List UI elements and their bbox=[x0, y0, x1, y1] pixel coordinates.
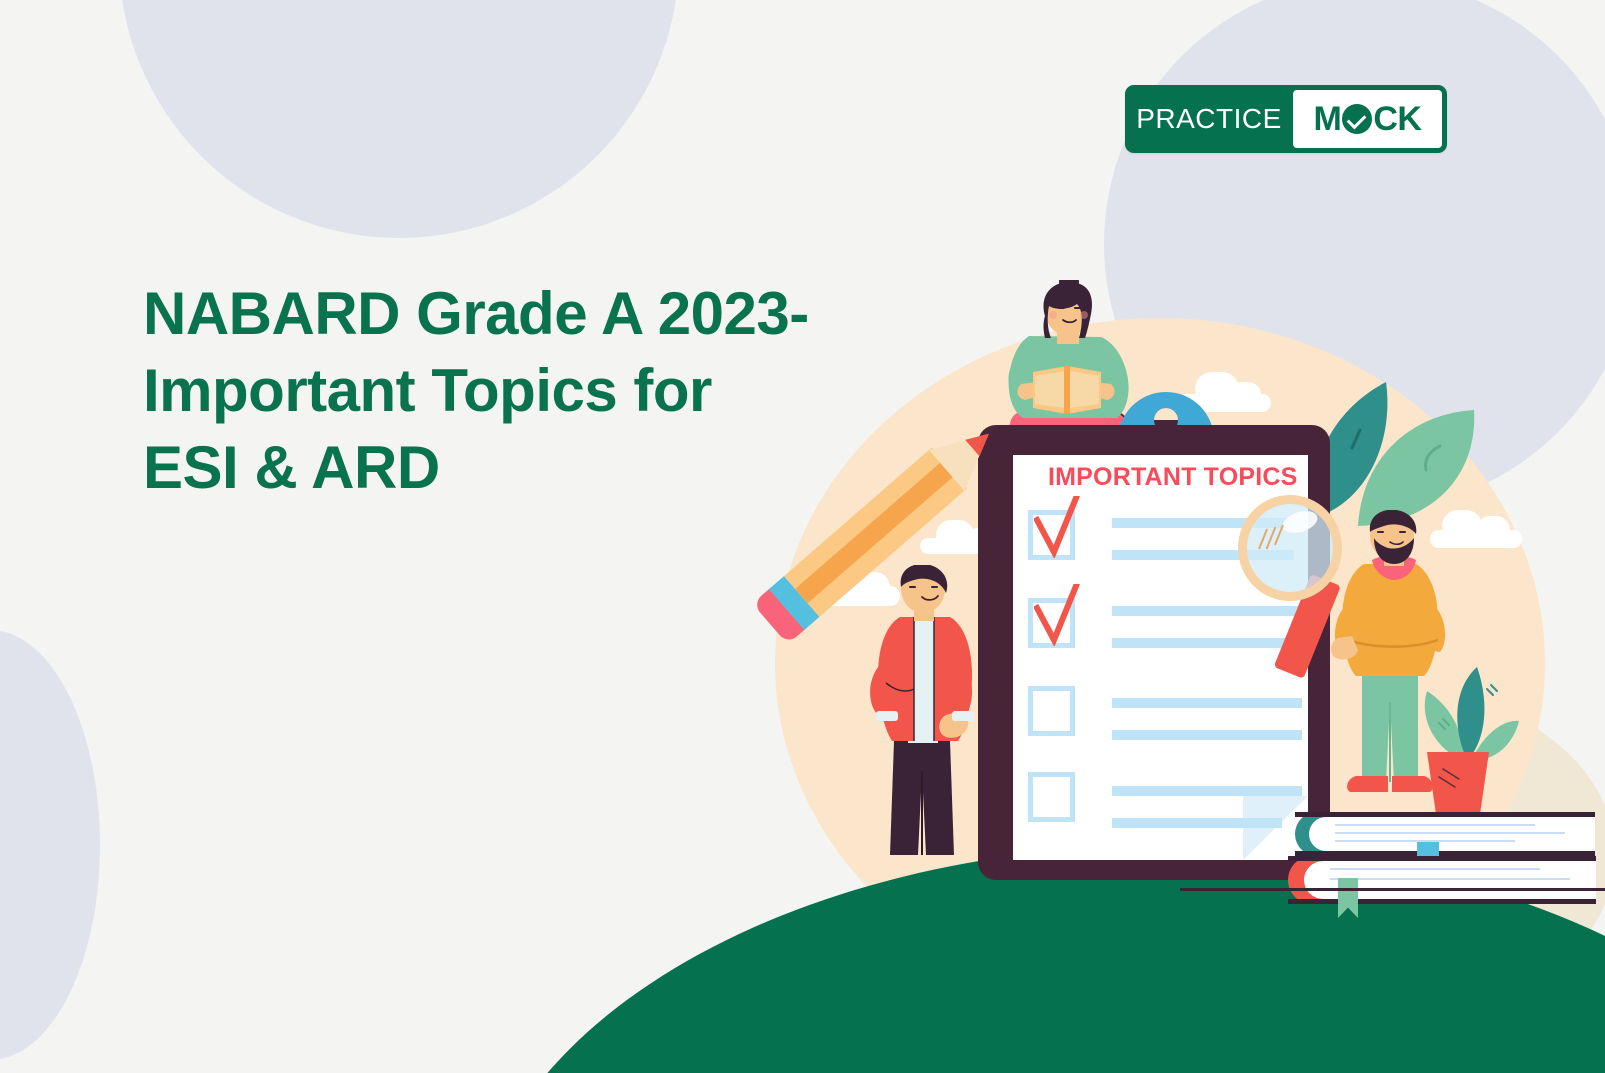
book-top bbox=[1295, 812, 1595, 856]
checkbox-3[interactable] bbox=[1028, 686, 1075, 736]
book-bottom bbox=[1288, 856, 1596, 904]
character-man-pencil bbox=[860, 565, 990, 865]
ground-line bbox=[1180, 888, 1605, 891]
checklist-row[interactable] bbox=[1028, 598, 1293, 676]
magnifier-ring bbox=[1238, 495, 1342, 601]
banner-canvas: PRACTICE M CK NABARD Grade A 2023- Impor… bbox=[0, 0, 1605, 1073]
pot-texture bbox=[1437, 765, 1477, 791]
bookmark-green bbox=[1338, 878, 1358, 918]
checklist-row[interactable] bbox=[1028, 772, 1293, 850]
checkmark-1-icon bbox=[1034, 496, 1080, 558]
plant-leaves-icon bbox=[1405, 665, 1525, 765]
clipboard-heading: IMPORTANT TOPICS bbox=[1048, 463, 1318, 492]
checklist-row[interactable] bbox=[1028, 686, 1293, 764]
checkbox-4[interactable] bbox=[1028, 772, 1075, 822]
checkmark-2-icon bbox=[1034, 584, 1080, 646]
hero-illustration: IMPORTANT TOPICS bbox=[0, 0, 1605, 1073]
